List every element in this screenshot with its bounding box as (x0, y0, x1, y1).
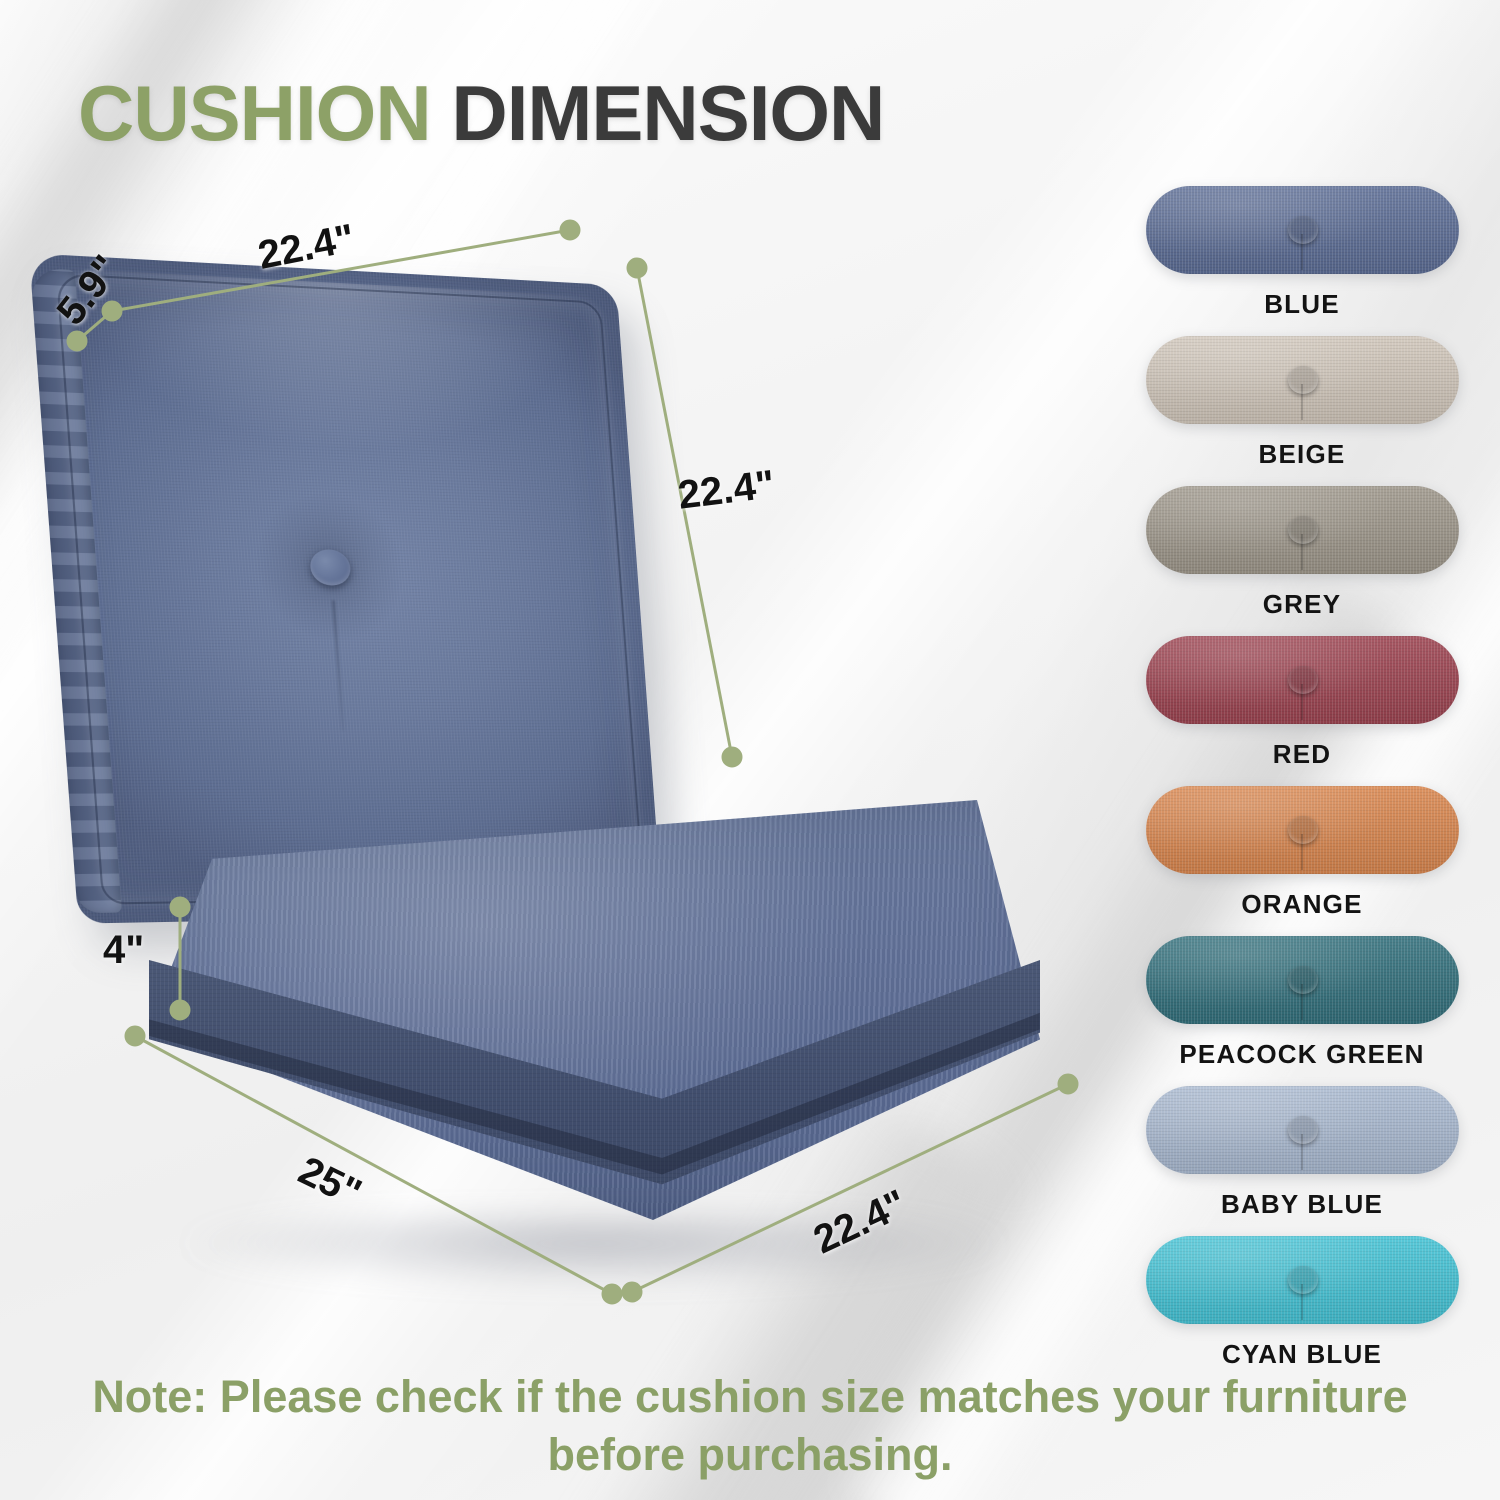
color-swatch-item-blue[interactable]: BLUE (1128, 186, 1476, 331)
swatch-tuft-button-icon (1288, 366, 1318, 394)
swatch-pill-orange[interactable] (1146, 786, 1459, 874)
cushion-illustration: 5.9" 22.4" 22.4" 4" 25" 22.4" (0, 0, 1120, 1340)
swatch-tuft-button-icon (1288, 216, 1318, 244)
swatch-pill-red[interactable] (1146, 636, 1459, 724)
swatch-label-red: RED (1128, 724, 1476, 781)
swatch-label-grey: GREY (1128, 574, 1476, 631)
swatch-label-baby-blue: BABY BLUE (1128, 1174, 1476, 1231)
color-swatch-item-grey[interactable]: GREY (1128, 486, 1476, 631)
color-swatch-item-red[interactable]: RED (1128, 636, 1476, 781)
infographic-page: CUSHION DIMENSION (0, 0, 1500, 1500)
color-swatch-item-beige[interactable]: BEIGE (1128, 336, 1476, 481)
swatch-label-orange: ORANGE (1128, 874, 1476, 931)
swatch-pill-peacock-green[interactable] (1146, 936, 1459, 1024)
swatch-tuft-button-icon (1288, 516, 1318, 544)
dim-label-seat-width: 25" (291, 1148, 368, 1216)
swatch-tuft-button-icon (1288, 1116, 1318, 1144)
purchase-note-line-2: before purchasing. (0, 1426, 1500, 1484)
swatch-tuft-button-icon (1288, 966, 1318, 994)
purchase-note: Note: Please check if the cushion size m… (0, 1368, 1500, 1483)
color-swatch-item-baby-blue[interactable]: BABY BLUE (1128, 1086, 1476, 1231)
swatch-tuft-button-icon (1288, 1266, 1318, 1294)
dim-label-seat-thickness: 4" (103, 928, 144, 973)
swatch-pill-cyan-blue[interactable] (1146, 1236, 1459, 1324)
dim-label-back-height: 22.4" (676, 462, 778, 518)
color-swatch-item-orange[interactable]: ORANGE (1128, 786, 1476, 931)
color-swatch-item-peacock-green[interactable]: PEACOCK GREEN (1128, 936, 1476, 1081)
back-cushion (29, 253, 662, 923)
swatch-pill-baby-blue[interactable] (1146, 1086, 1459, 1174)
swatch-label-peacock-green: PEACOCK GREEN (1128, 1024, 1476, 1081)
swatch-pill-beige[interactable] (1146, 336, 1459, 424)
swatch-label-blue: BLUE (1128, 274, 1476, 331)
swatch-tuft-button-icon (1288, 816, 1318, 844)
swatch-label-beige: BEIGE (1128, 424, 1476, 481)
color-swatch-item-cyan-blue[interactable]: CYAN BLUE (1128, 1236, 1476, 1381)
swatch-pill-blue[interactable] (1146, 186, 1459, 274)
swatch-pill-grey[interactable] (1146, 486, 1459, 574)
color-swatch-list: BLUE BEIGE GREY (1128, 186, 1476, 1386)
purchase-note-line-1: Note: Please check if the cushion size m… (0, 1368, 1500, 1426)
swatch-tuft-button-icon (1288, 666, 1318, 694)
